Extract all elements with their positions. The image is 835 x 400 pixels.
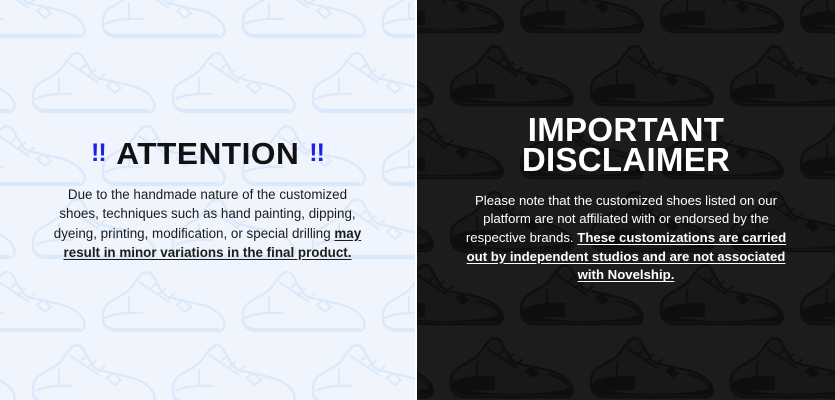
- disclaimer-body: Please note that the customized shoes li…: [460, 192, 792, 286]
- attention-headline-text: ATTENTION: [116, 138, 299, 169]
- disclaimer-headline-line2: DISCLAIMER: [522, 145, 730, 175]
- disclaimer-banner: !! ATTENTION !! Due to the handmade natu…: [0, 0, 835, 400]
- attention-content: !! ATTENTION !! Due to the handmade natu…: [0, 0, 415, 400]
- exclamation-left-icon: !!: [91, 141, 106, 166]
- disclaimer-panel: IMPORTANT DISCLAIMER Please note that th…: [417, 0, 835, 400]
- attention-panel: !! ATTENTION !! Due to the handmade natu…: [0, 0, 417, 400]
- attention-headline: !! ATTENTION !!: [91, 138, 324, 169]
- disclaimer-content: IMPORTANT DISCLAIMER Please note that th…: [417, 0, 835, 400]
- disclaimer-headline: IMPORTANT DISCLAIMER: [522, 115, 730, 176]
- attention-body-normal: Due to the handmade nature of the custom…: [54, 187, 356, 240]
- attention-body: Due to the handmade nature of the custom…: [48, 185, 368, 261]
- exclamation-right-icon: !!: [309, 141, 324, 166]
